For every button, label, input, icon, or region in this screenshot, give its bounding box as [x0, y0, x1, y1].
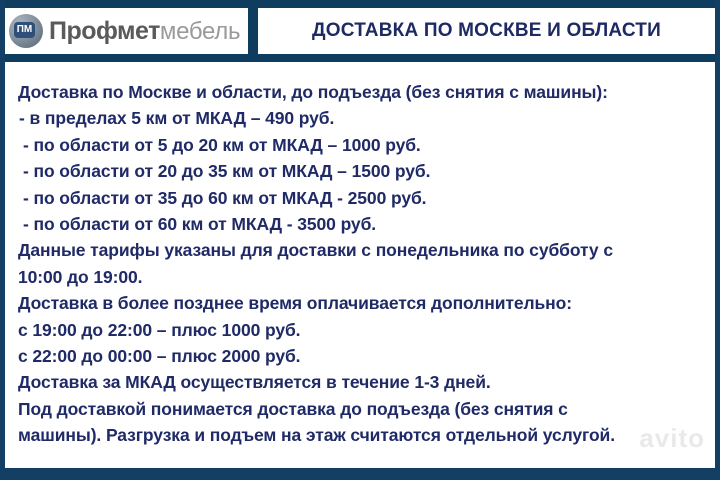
- delivery-terms-line: Доставка по Москве и области, до подъезд…: [18, 79, 705, 105]
- logo-wordmark: Профмет мебель: [49, 17, 240, 46]
- delivery-terms-line: Доставка в более позднее время оплачивае…: [18, 290, 705, 316]
- header-band: ПМ Профмет мебель ДОСТАВКА ПО МОСКВЕ И О…: [0, 0, 720, 62]
- logo-word-primary: Профмет: [49, 17, 160, 46]
- delivery-terms-line: - в пределах 5 км от МКАД – 490 руб.: [18, 105, 705, 131]
- logo-badge-initials: ПМ: [14, 22, 35, 38]
- logo-panel[interactable]: ПМ Профмет мебель: [5, 8, 248, 54]
- delivery-terms-line: - по области от 35 до 60 км от МКАД - 25…: [18, 185, 705, 211]
- logo-word-secondary: мебель: [160, 18, 240, 46]
- delivery-terms-line: машины). Разгрузка и подъем на этаж счит…: [18, 422, 705, 448]
- delivery-terms-line: Данные тарифы указаны для доставки с пон…: [18, 237, 705, 263]
- delivery-terms-line: Доставка за МКАД осуществляется в течени…: [18, 369, 705, 395]
- page-title: ДОСТАВКА ПО МОСКВЕ И ОБЛАСТИ: [312, 20, 661, 42]
- delivery-terms-line: с 19:00 до 22:00 – плюс 1000 руб.: [18, 317, 705, 343]
- delivery-terms-line: - по области от 20 до 35 км от МКАД – 15…: [18, 158, 705, 184]
- delivery-terms-line: 10:00 до 19:00.: [18, 264, 705, 290]
- delivery-terms-line: - по области от 5 до 20 км от МКАД – 100…: [18, 132, 705, 158]
- company-logo-emblem-icon: ПМ: [9, 14, 43, 48]
- title-panel: ДОСТАВКА ПО МОСКВЕ И ОБЛАСТИ: [258, 8, 715, 54]
- delivery-terms-line: с 22:00 до 00:00 – плюс 2000 руб.: [18, 343, 705, 369]
- delivery-info-card: ПМ Профмет мебель ДОСТАВКА ПО МОСКВЕ И О…: [0, 0, 720, 480]
- delivery-terms-line: - по области от 60 км от МКАД - 3500 руб…: [18, 211, 705, 237]
- delivery-terms-line: Под доставкой понимается доставка до под…: [18, 396, 705, 422]
- delivery-terms-text-block: Доставка по Москве и области, до подъезд…: [5, 62, 715, 449]
